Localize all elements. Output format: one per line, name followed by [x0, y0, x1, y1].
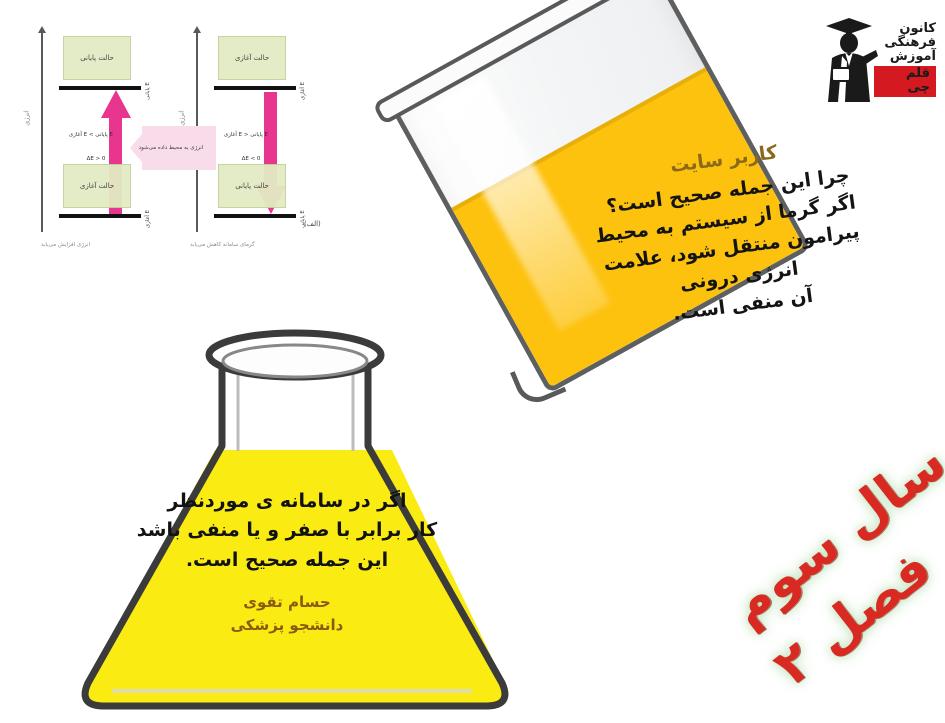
energy-axis-label-b: انرژی [23, 110, 31, 125]
level-tag-b-bot: E آغازی [145, 210, 151, 228]
logo-wordmark: کانون فرهنگی آموزش قلم چی [874, 22, 936, 97]
logo-line-2: فرهنگی [874, 36, 936, 50]
state-box-b-lower: حالت آغازی [63, 164, 131, 208]
energy-axis-b [41, 32, 43, 232]
chapter-title: سال سوم فصل ۲ [660, 420, 945, 670]
signature-role: دانشجو پزشکی [112, 614, 462, 637]
signature-name: حسام تقوی [112, 591, 462, 614]
delta-sign-b: ΔE > 0 [79, 156, 113, 163]
state-box-a-lower: حالت پایانی [218, 164, 286, 208]
level-tag-b-top: E پایانی [145, 82, 151, 100]
energy-level-a-top [214, 86, 296, 90]
energy-arrow-head-b [101, 90, 131, 118]
logo-line-3: آموزش [874, 50, 936, 64]
flask-line-2: کار برابر با صفر و یا منفی باشد [112, 516, 462, 545]
energy-level-diagram: انرژی حالت آغازی E آغازی E پایانی < E آغ… [12, 14, 332, 264]
energy-axis-label-a: انرژی [178, 110, 186, 125]
flask-text-block: اگر در سامانه ی موردنظر کار برابر با صفر… [112, 487, 462, 636]
delta-compare-a: E پایانی < E آغازی [234, 132, 268, 139]
graduate-person-icon [818, 10, 880, 106]
panel-caption-a: گرمای سامانه کاهش می‌یابد [190, 242, 255, 248]
panel-caption-b: انرژی افزایش می‌یابد [41, 242, 90, 248]
logo-badge: قلم چی [874, 66, 936, 97]
energy-transfer-callout: انرژی به محیط داده می‌شود [130, 126, 216, 170]
flask-rim-inner [223, 345, 367, 377]
flask-signature: حسام تقوی دانشجو پزشکی [112, 591, 462, 636]
state-box-a-upper: حالت آغازی [218, 36, 286, 80]
panel-letter-a: (الف) [304, 220, 321, 228]
energy-level-b-bot [59, 214, 141, 218]
delta-compare-b: E پایانی > E آغازی [79, 132, 113, 139]
logo-line-1: کانون [874, 22, 936, 36]
delta-sign-a: ΔE < 0 [234, 156, 268, 163]
level-tag-a-top: E آغازی [300, 82, 306, 100]
flask-illustration: اگر در سامانه ی موردنظر کار برابر با صفر… [52, 275, 552, 723]
brand-logo: کانون فرهنگی آموزش قلم چی [818, 6, 938, 110]
state-box-b-upper: حالت پایانی [63, 36, 131, 80]
slide-canvas: انرژی حالت آغازی E آغازی E پایانی < E آغ… [0, 0, 945, 720]
energy-level-a-bot [214, 214, 296, 218]
flask-line-3: این جمله صحیح است. [112, 546, 462, 575]
flask-line-1: اگر در سامانه ی موردنظر [112, 487, 462, 516]
